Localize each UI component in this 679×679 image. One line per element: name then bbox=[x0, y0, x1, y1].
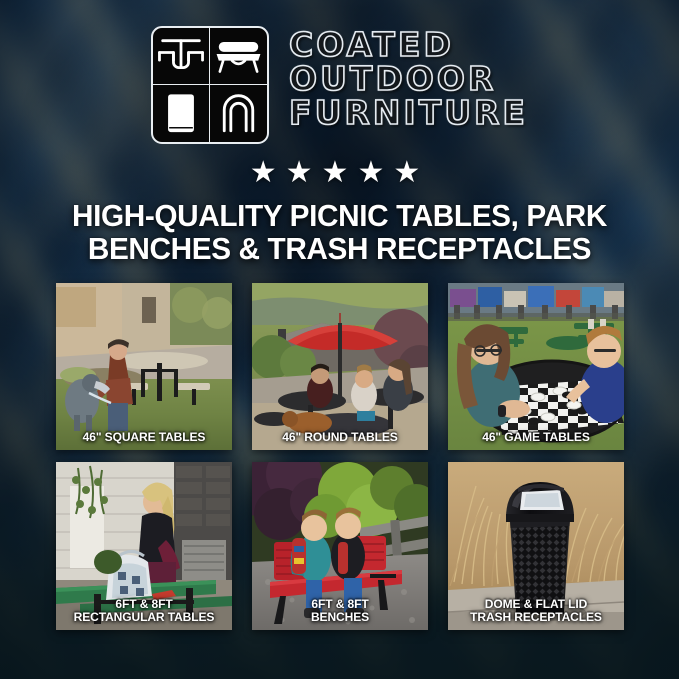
bike-rack-arch-icon bbox=[210, 85, 267, 142]
star-icon-1: ★ bbox=[250, 158, 286, 188]
logo-wordmark: COATED OUTDOOR FURNITURE bbox=[289, 26, 528, 130]
caption-line-2: BENCHES bbox=[258, 611, 423, 624]
headline-line-1: HIGH-QUALITY PICNIC TABLES, PARK bbox=[14, 199, 666, 232]
caption-line-2: RECTANGULAR TABLES bbox=[62, 611, 227, 624]
caption-line-2: TRASH RECEPTACLES bbox=[454, 611, 619, 624]
product-tile-square-tables[interactable]: 46" SQUARE TABLES bbox=[56, 283, 232, 450]
caption-line-1: 46" ROUND TABLES bbox=[258, 431, 423, 444]
headline: HIGH-QUALITY PICNIC TABLES, PARK BENCHES… bbox=[14, 199, 666, 265]
headline-line-2: BENCHES & TRASH RECEPTACLES bbox=[14, 232, 666, 265]
product-tile-rectangular-tables[interactable]: 6FT & 8FT RECTANGULAR TABLES bbox=[56, 462, 232, 630]
product-tile-benches[interactable]: 6FT & 8FT BENCHES bbox=[252, 462, 428, 630]
park-bench-icon bbox=[210, 28, 267, 85]
caption-line-1: 46" SQUARE TABLES bbox=[62, 431, 227, 444]
logo-word-furniture: FURNITURE bbox=[289, 96, 528, 130]
product-photo-square-tables bbox=[56, 283, 232, 450]
star-rating: ★★★★★ bbox=[0, 158, 679, 188]
star-icon-4: ★ bbox=[357, 158, 393, 188]
product-photo-round-tables bbox=[252, 283, 428, 450]
caption-line-1: 46" GAME TABLES bbox=[454, 431, 619, 444]
logo-word-coated: COATED bbox=[289, 28, 528, 62]
logo-word-outdoor: OUTDOOR bbox=[289, 62, 528, 96]
star-icon-2: ★ bbox=[286, 158, 322, 188]
star-icon-5: ★ bbox=[393, 158, 429, 188]
poster-canvas: COATED OUTDOOR FURNITURE ★★★★★ HIGH-QUAL… bbox=[0, 0, 679, 679]
product-grid: 46" SQUARE TABLES bbox=[56, 283, 624, 630]
product-tile-game-tables[interactable]: 46" GAME TABLES bbox=[448, 283, 624, 450]
trash-receptacle-icon bbox=[153, 85, 210, 142]
product-photo-game-tables bbox=[448, 283, 624, 450]
logo-icon-grid bbox=[151, 26, 269, 144]
poster-content: COATED OUTDOOR FURNITURE ★★★★★ HIGH-QUAL… bbox=[0, 0, 679, 679]
picnic-table-icon bbox=[153, 28, 210, 85]
product-caption-benches: 6FT & 8FT BENCHES bbox=[255, 598, 426, 624]
brand-logo: COATED OUTDOOR FURNITURE bbox=[0, 26, 679, 144]
product-caption-trash-receptacles: DOME & FLAT LID TRASH RECEPTACLES bbox=[451, 598, 622, 624]
product-caption-square-tables: 46" SQUARE TABLES bbox=[59, 431, 230, 444]
product-caption-rectangular-tables: 6FT & 8FT RECTANGULAR TABLES bbox=[59, 598, 230, 624]
product-tile-trash-receptacles[interactable]: DOME & FLAT LID TRASH RECEPTACLES bbox=[448, 462, 624, 630]
product-tile-round-tables[interactable]: 46" ROUND TABLES bbox=[252, 283, 428, 450]
star-icon-3: ★ bbox=[322, 158, 358, 188]
product-caption-round-tables: 46" ROUND TABLES bbox=[255, 431, 426, 444]
product-caption-game-tables: 46" GAME TABLES bbox=[451, 431, 622, 444]
